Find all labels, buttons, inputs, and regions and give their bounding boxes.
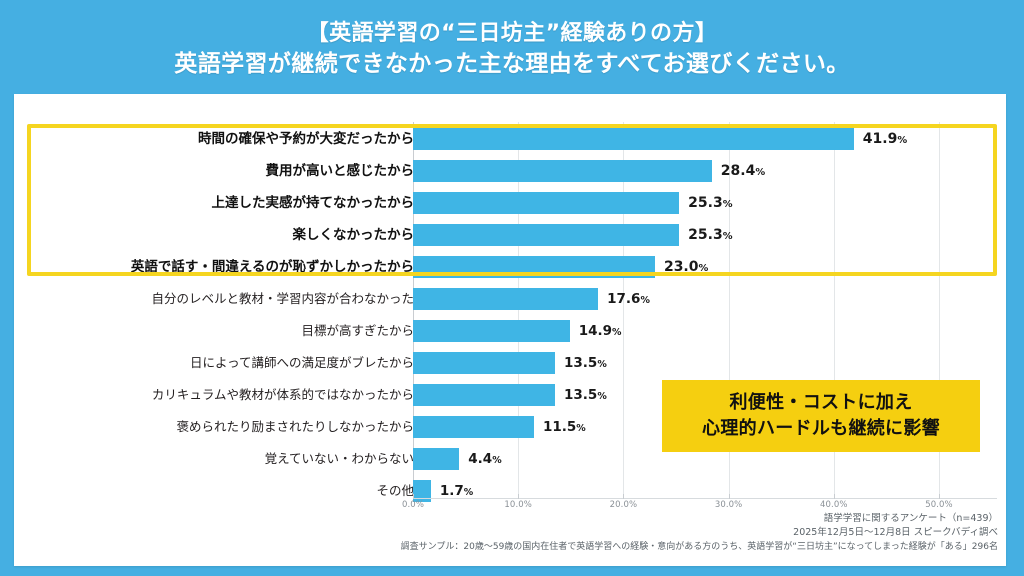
bar-value-label: 4.4%: [468, 448, 501, 470]
survey-period-and-author: 2025年12月5日〜12月8日 スピークバディ調べ: [14, 526, 998, 540]
bar-row: 覚えていない・わからない4.4%: [14, 448, 1006, 480]
bar: [413, 384, 555, 406]
bar-category-label: 日によって講師への満足度がブレたから: [190, 352, 414, 374]
bar-category-label: カリキュラムや教材が体系的ではなかったから: [152, 384, 414, 406]
x-axis-line: [413, 498, 997, 499]
bar-value-label: 11.5%: [543, 416, 586, 438]
bar: [413, 320, 570, 342]
bar-value-label: 17.6%: [607, 288, 650, 310]
bar-value-label: 13.5%: [564, 384, 607, 406]
x-tick-label-30: 30.0%: [694, 500, 764, 510]
bar-category-label: 褒められたり励まされたりしなかったから: [176, 416, 414, 438]
page-title: 【英語学習の“三日坊主”経験ありの方】 英語学習が継続できなかった主な理由をすべ…: [0, 18, 1024, 80]
bar-category-label: 自分のレベルと教材・学習内容が合わなかった: [151, 288, 414, 310]
x-tick-mark-10: [518, 494, 519, 499]
x-tick-mark-40: [834, 494, 835, 499]
bar-value-label: 14.9%: [579, 320, 622, 342]
bar-row: 自分のレベルと教材・学習内容が合わなかった17.6%: [14, 288, 1006, 320]
survey-name-and-n: 語学学習に関するアンケート（n=439）: [14, 512, 998, 526]
x-tick-mark-20: [623, 494, 624, 499]
bar-category-label: 覚えていない・わからない: [265, 448, 414, 470]
bar: [413, 288, 598, 310]
bar: [413, 416, 534, 438]
insight-callout: 利便性・コストに加え 心理的ハードルも継続に影響: [662, 380, 980, 452]
x-tick-mark-0: [413, 494, 414, 499]
page-title-line-1: 【英語学習の“三日坊主”経験ありの方】: [0, 18, 1024, 49]
survey-sample-description: 調査サンプル：20歳〜59歳の国内在住者で英語学習への経験・意向がある方のうち、…: [14, 540, 998, 554]
insight-callout-line-1: 利便性・コストに加え: [730, 390, 913, 416]
x-tick-label-50: 50.0%: [904, 500, 974, 510]
bar-row: 目標が高すぎたから14.9%: [14, 320, 1006, 352]
bar: [413, 352, 555, 374]
page-title-line-2: 英語学習が継続できなかった主な理由をすべてお選びください。: [0, 49, 1024, 80]
source-footnote: 語学学習に関するアンケート（n=439） 2025年12月5日〜12月8日 スピ…: [14, 512, 1006, 554]
bar-category-label: その他: [376, 480, 414, 502]
bar-chart: 時間の確保や予約が大変だったから41.9%費用が高いと感じたから28.4%上達し…: [14, 94, 1006, 566]
x-tick-label-10: 10.0%: [483, 500, 553, 510]
insight-callout-line-2: 心理的ハードルも継続に影響: [702, 416, 940, 442]
bar-value-label: 13.5%: [564, 352, 607, 374]
bar: [413, 448, 459, 470]
x-tick-label-20: 20.0%: [588, 500, 658, 510]
x-tick-label-0: 0.0%: [378, 500, 448, 510]
x-tick-mark-50: [939, 494, 940, 499]
x-tick-mark-30: [729, 494, 730, 499]
chart-card: 時間の確保や予約が大変だったから41.9%費用が高いと感じたから28.4%上達し…: [14, 94, 1006, 566]
top-reasons-highlight-box: [27, 124, 997, 276]
x-tick-label-40: 40.0%: [799, 500, 869, 510]
bar-category-label: 目標が高すぎたから: [301, 320, 414, 342]
